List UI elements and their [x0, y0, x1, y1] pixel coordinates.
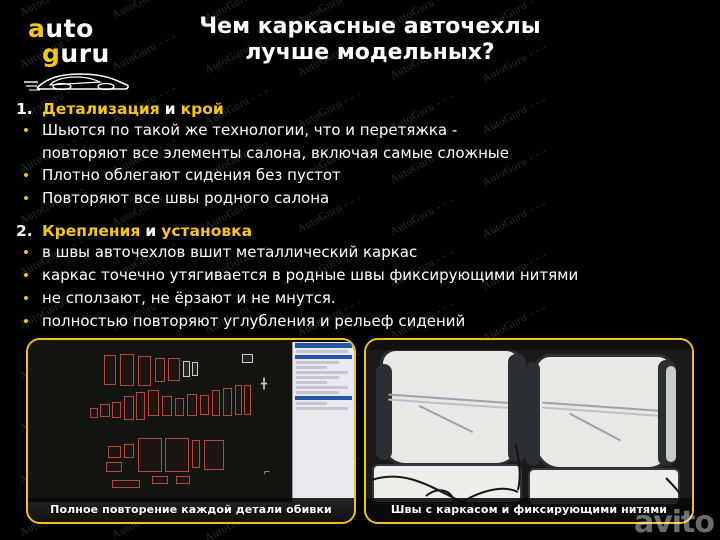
section-1-heading: 1. Детализация и крой	[16, 100, 710, 118]
bullet-marker: •	[16, 188, 42, 210]
list-item-text: в швы авточехлов вшит металлический карк…	[42, 242, 417, 263]
list-item-text: Повторяют все швы родного салона	[42, 188, 329, 209]
section-2-highlight-2: установка	[161, 222, 252, 240]
avito-watermark: avito	[634, 508, 714, 538]
list-item: • не сползают, не ёрзают и не мнутся.	[16, 288, 710, 310]
section-2-heading: 2. Крепления и установка	[16, 222, 710, 240]
section-1-number: 1.	[16, 100, 42, 118]
header: auto guru Чем каркасные авточехлы лучше …	[0, 0, 720, 100]
cad-drawing-area: ╋ ⌐	[28, 340, 292, 500]
cad-pattern-photo: ╋ ⌐ Полное повторение каждой детали	[26, 338, 356, 524]
list-item: • полностью повторяют углубления и релье…	[16, 311, 710, 333]
list-item: повторяют все элементы салона, включая с…	[16, 143, 710, 164]
list-item: • каркас точечно утягивается в родные шв…	[16, 265, 710, 287]
page-title: Чем каркасные авточехлы лучше модельных?	[160, 14, 580, 66]
cad-properties-panel[interactable]	[292, 342, 354, 508]
section-2-number: 2.	[16, 222, 42, 240]
photo-panels: ╋ ⌐ Полное повторение каждой детали	[0, 338, 720, 530]
seat-covers-photo: Швы с каркасом и фиксирующими нитями	[364, 338, 694, 524]
list-item: • Шьются по такой же технологии, что и п…	[16, 120, 710, 142]
list-item: • Плотно облегают сидения без пустот	[16, 165, 710, 187]
list-item-text: Плотно облегают сидения без пустот	[42, 165, 341, 186]
bullet-marker: •	[16, 120, 42, 142]
logo-line-guru: guru	[28, 41, 148, 66]
page-title-line1: Чем каркасные авточехлы	[160, 14, 580, 40]
section-1-conjunction: и	[165, 100, 176, 118]
seat-photo-background	[366, 340, 692, 522]
list-item-text: полностью повторяют углубления и рельеф …	[42, 311, 465, 332]
section-1-highlight-1: Детализация	[42, 100, 160, 118]
bullet-marker: •	[16, 165, 42, 187]
content-list: 1. Детализация и крой • Шьются по такой …	[0, 100, 720, 330]
logo-letter-g: g	[42, 39, 60, 68]
bullet-marker: •	[16, 288, 42, 310]
logo-line-auto: auto	[28, 16, 148, 41]
cad-panel-subheader-2	[295, 396, 352, 400]
list-item-text: каркас точечно утягивается в родные швы …	[42, 265, 578, 286]
fixing-threads	[366, 340, 694, 524]
list-item-text: повторяют все элементы салона, включая с…	[42, 143, 509, 164]
panel-caption: Полное повторение каждой детали обивки	[28, 498, 354, 522]
list-item: • в швы авточехлов вшит металлический ка…	[16, 242, 710, 264]
bullet-marker: •	[16, 242, 42, 264]
bullet-marker: •	[16, 265, 42, 287]
section-2-conjunction: и	[145, 222, 156, 240]
section-1-highlight-2: крой	[181, 100, 224, 118]
cad-screen: ╋ ⌐	[28, 340, 354, 522]
list-item: • Повторяют все швы родного салона	[16, 188, 710, 210]
car-silhouette-icon	[24, 68, 132, 94]
logo-text-uru: uru	[60, 39, 109, 68]
cad-panel-header	[295, 343, 352, 348]
cad-crosshair-icon: ╋	[261, 380, 267, 390]
section-spacer	[16, 211, 710, 222]
page-title-line2: лучше модельных?	[160, 40, 580, 66]
cad-panel-subheader	[295, 355, 352, 359]
cad-axis-icon: ⌐	[264, 468, 270, 478]
list-item-text: Шьются по такой же технологии, что и пер…	[42, 120, 457, 141]
section-2-highlight-1: Крепления	[42, 222, 140, 240]
list-item-text: не сползают, не ёрзают и не мнутся.	[42, 288, 336, 309]
bullet-marker: •	[16, 311, 42, 333]
brand-logo: auto guru	[28, 16, 148, 94]
